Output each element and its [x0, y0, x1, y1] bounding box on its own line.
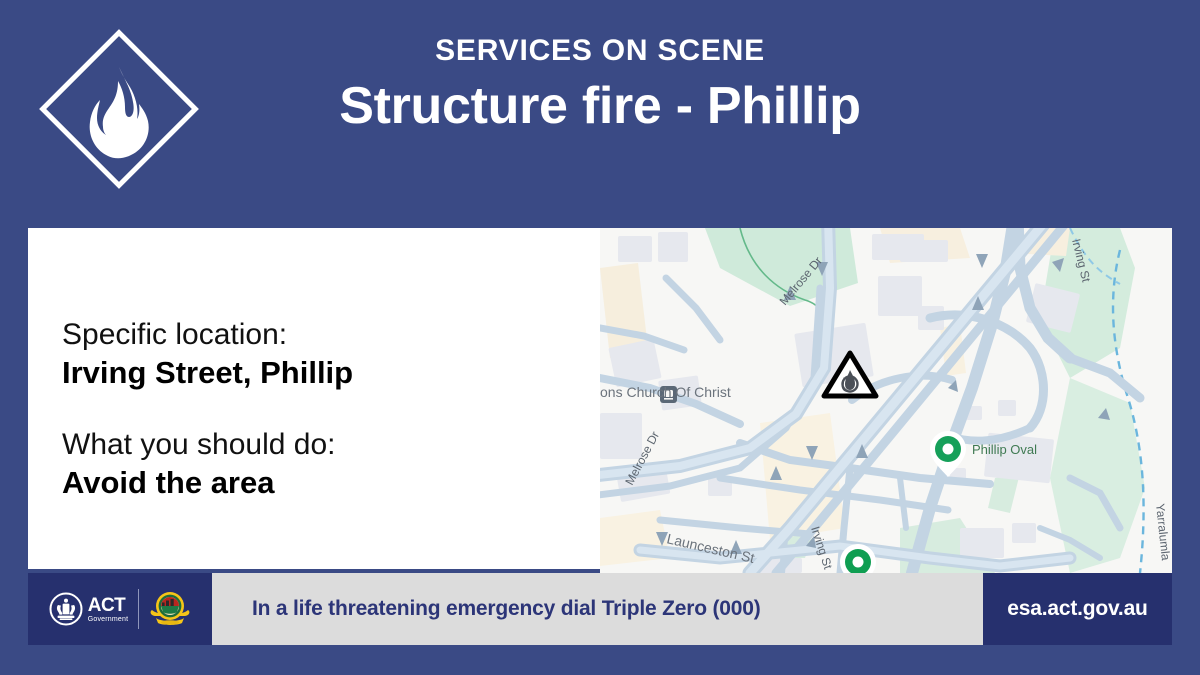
act-logo-subtext: Government [88, 616, 129, 623]
website-url-text: esa.act.gov.au [1007, 597, 1147, 621]
act-coat-of-arms-icon [49, 592, 83, 626]
emergency-message-text: In a life threatening emergency dial Tri… [212, 597, 761, 621]
alert-kicker: SERVICES ON SCENE [220, 34, 980, 69]
specific-location-field: Specific location: Irving Street, Philli… [62, 316, 600, 392]
incident-location-map[interactable]: Melrose Dr Melrose Dr Irving St Irving S… [600, 228, 1172, 573]
advice-value: Avoid the area [62, 464, 600, 503]
header-banner: SERVICES ON SCENE Structure fire - Phill… [0, 0, 1200, 228]
map-label-church: ons Church Of Christ [600, 384, 731, 400]
footer-logo-block: ACT Government [28, 573, 212, 645]
fire-diamond-icon [38, 28, 200, 190]
esa-crest-icon [149, 588, 191, 630]
specific-location-value: Irving Street, Phillip [62, 354, 600, 393]
act-government-logo: ACT Government [49, 592, 129, 626]
advice-label: What you should do: [62, 426, 600, 464]
page-title: Structure fire - Phillip [220, 73, 980, 141]
footer-bar: ACT Government In a life threatening eme… [28, 573, 1172, 645]
advice-field: What you should do: Avoid the area [62, 426, 600, 502]
website-url-block[interactable]: esa.act.gov.au [983, 573, 1172, 645]
map-label-phillip-oval: Phillip Oval [972, 442, 1037, 457]
header-text-block: SERVICES ON SCENE Structure fire - Phill… [220, 34, 980, 140]
incident-details-panel: Specific location: Irving Street, Philli… [28, 228, 600, 569]
specific-location-label: Specific location: [62, 316, 600, 354]
logo-divider [138, 589, 139, 629]
emergency-message-bar: In a life threatening emergency dial Tri… [212, 573, 983, 645]
act-logo-word: ACT [88, 596, 129, 615]
